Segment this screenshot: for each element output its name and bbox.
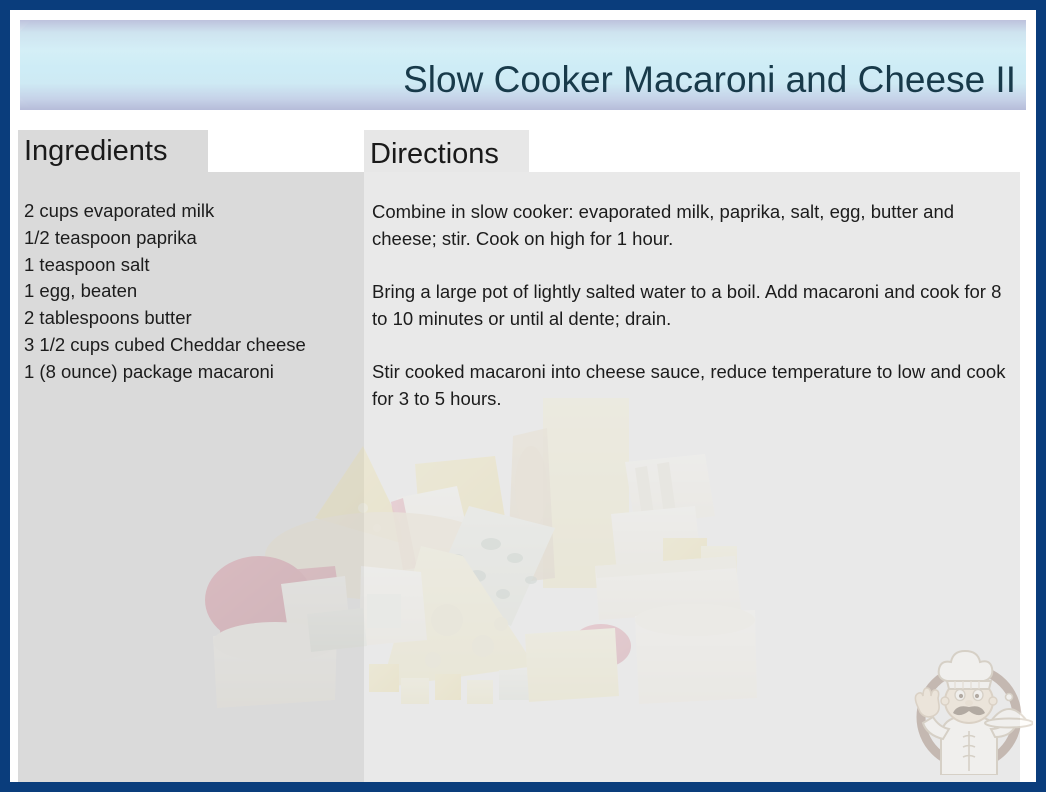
list-item: 1/2 teaspoon paprika <box>24 225 364 252</box>
list-item: 1 teaspoon salt <box>24 252 364 279</box>
list-item: 2 cups evaporated milk <box>24 198 364 225</box>
list-item: 3 1/2 cups cubed Cheddar cheese <box>24 332 364 359</box>
ingredients-heading: Ingredients <box>24 133 168 169</box>
slide-canvas: Slow Cooker Macaroni and Cheese II Ingre… <box>10 10 1036 782</box>
ingredients-list: 2 cups evaporated milk 1/2 teaspoon papr… <box>24 198 364 386</box>
directions-steps: Combine in slow cooker: evaporated milk,… <box>372 198 1014 438</box>
chef-mascot-logo <box>905 643 1033 775</box>
directions-heading: Directions <box>370 136 499 172</box>
list-item: 1 (8 ounce) package macaroni <box>24 359 364 386</box>
list-item: 2 tablespoons butter <box>24 305 364 332</box>
direction-step: Stir cooked macaroni into cheese sauce, … <box>372 358 1014 412</box>
direction-step: Bring a large pot of lightly salted wate… <box>372 278 1014 332</box>
title-banner: Slow Cooker Macaroni and Cheese II <box>20 20 1026 110</box>
direction-step: Combine in slow cooker: evaporated milk,… <box>372 198 1014 252</box>
page-title: Slow Cooker Macaroni and Cheese II <box>30 58 1016 102</box>
recipe-slide: Slow Cooker Macaroni and Cheese II Ingre… <box>0 0 1046 792</box>
list-item: 1 egg, beaten <box>24 278 364 305</box>
